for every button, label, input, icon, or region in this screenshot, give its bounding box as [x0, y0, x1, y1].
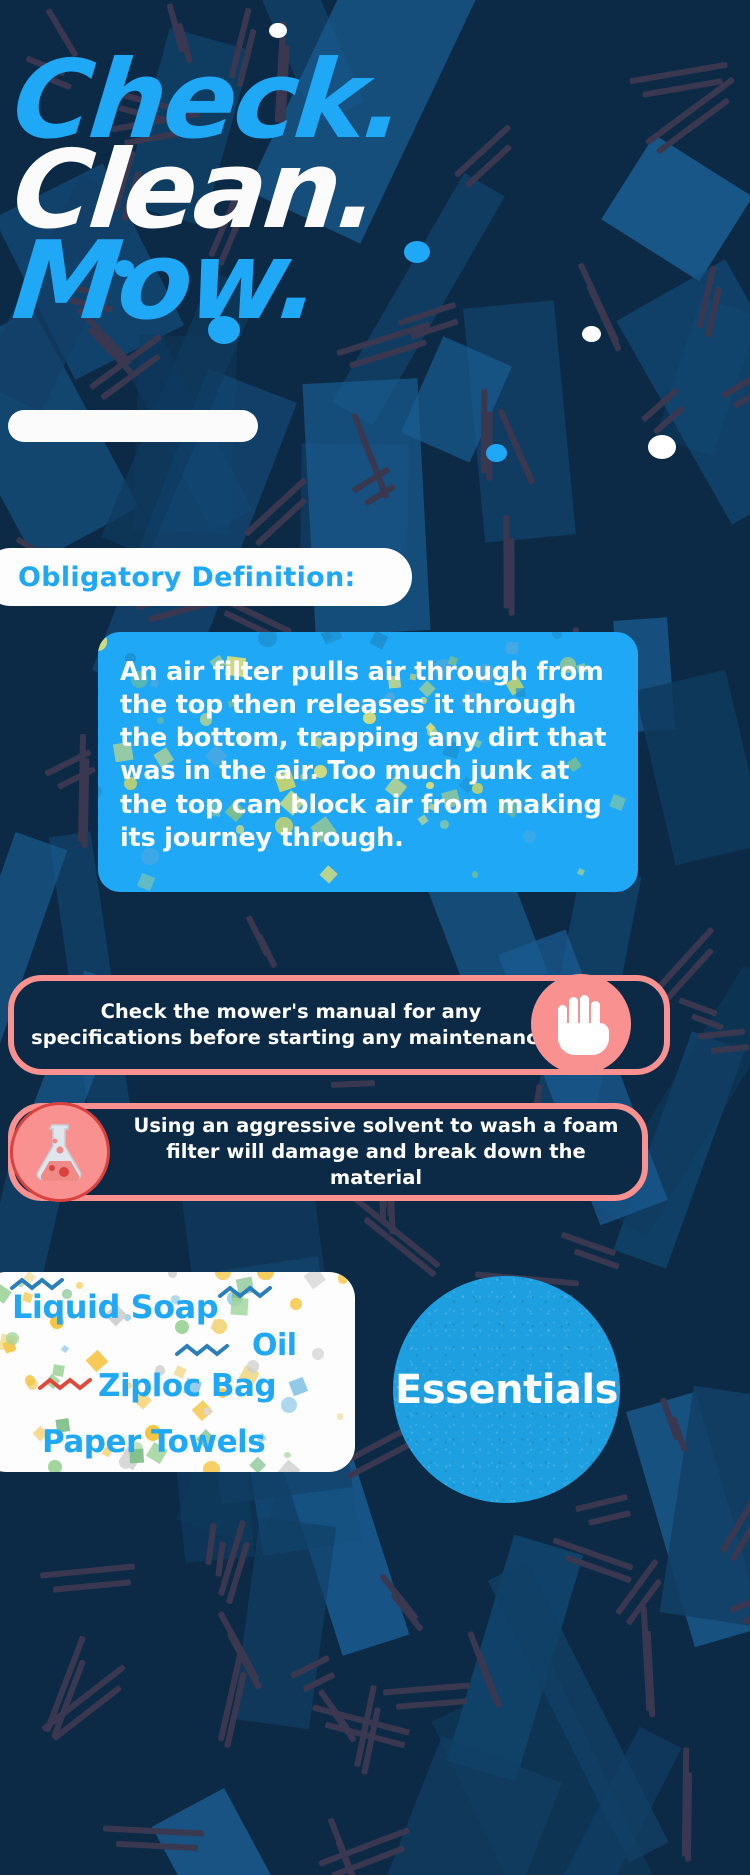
confetti-piece: [203, 1461, 220, 1472]
confetti-piece: [258, 632, 276, 647]
bg-dash: [335, 1840, 367, 1875]
confetti-piece: [137, 872, 156, 891]
bg-dash: [696, 266, 716, 329]
bg-dash: [705, 287, 722, 338]
bg-dash: [729, 1570, 750, 1612]
confetti-piece: [304, 1272, 326, 1289]
bg-dash: [57, 767, 96, 791]
bg-dash: [660, 1398, 680, 1441]
bg-rectangle: [463, 301, 575, 544]
bg-dash: [318, 1827, 410, 1867]
bg-dash: [245, 915, 270, 957]
bg-dash: [504, 515, 510, 608]
bg-dash: [82, 759, 90, 848]
bg-dash: [359, 435, 389, 500]
bg-dash: [468, 1630, 499, 1699]
bg-dash: [685, 1772, 692, 1861]
bg-dash: [243, 477, 307, 536]
bg-dash: [327, 1817, 365, 1875]
confetti-piece: [506, 641, 519, 654]
bg-rectangle: [626, 1392, 750, 1647]
bg-rectangle: [635, 669, 750, 865]
confetti-squiggle: [38, 1376, 96, 1394]
confetti-piece: [319, 866, 338, 885]
bg-dash: [101, 353, 162, 400]
confetti-piece: [472, 871, 478, 877]
definition-card: An air filter pulls air through from the…: [98, 632, 638, 892]
confetti-piece: [204, 1408, 211, 1415]
bg-dash: [224, 1672, 247, 1748]
bg-rectangle: [233, 1516, 337, 1728]
bg-dash: [733, 357, 750, 409]
confetti-piece: [25, 1375, 35, 1385]
essentials-item-1: Oil: [252, 1328, 297, 1363]
hand-stop-icon: [531, 974, 631, 1074]
confetti-piece: [577, 868, 585, 876]
bg-dash: [396, 1698, 467, 1710]
bg-dash: [588, 1510, 631, 1526]
bg-dash: [353, 1196, 442, 1269]
bg-dash: [641, 1606, 653, 1711]
bg-rectangle: [151, 1788, 282, 1875]
bg-dash: [40, 1563, 135, 1578]
confetti-piece: [98, 785, 102, 798]
bg-dash: [626, 1579, 663, 1626]
bg-dash: [573, 1248, 619, 1269]
bg-dash: [741, 1589, 750, 1625]
bg-dash: [577, 263, 619, 344]
bg-dash: [331, 1080, 375, 1088]
confetti-piece: [48, 1460, 62, 1472]
bg-dash: [226, 1632, 262, 1690]
bg-rectangle: [528, 1727, 682, 1875]
bg-dash: [254, 497, 307, 546]
bg-dash: [509, 538, 515, 615]
bg-rectangle: [401, 336, 512, 462]
bg-dash: [586, 284, 622, 352]
bg-dash: [364, 483, 396, 506]
confetti-piece: [6, 1332, 19, 1345]
warning-text-manual: Check the mower's manual for any specifi…: [14, 999, 568, 1051]
bg-dash: [487, 411, 493, 480]
bg-dash: [720, 1485, 750, 1553]
bg-dot: [486, 444, 507, 462]
bg-dash: [226, 1541, 250, 1604]
bg-dash: [388, 1200, 395, 1234]
confetti-piece: [281, 1397, 297, 1413]
bg-dash: [642, 78, 723, 98]
confetti-piece: [257, 1272, 274, 1280]
bg-rectangle: [431, 1664, 657, 1875]
title-line-3: Mow.: [9, 239, 488, 325]
bg-dash: [51, 1659, 86, 1739]
bg-dash: [312, 1704, 410, 1735]
bg-rectangle: [656, 297, 750, 455]
bg-dash: [329, 1707, 357, 1743]
bg-dash: [354, 1684, 377, 1766]
essentials-item-3: Paper Towels: [42, 1424, 265, 1460]
bg-dash: [78, 734, 86, 842]
confetti-piece: [552, 632, 563, 639]
confetti-piece: [337, 1413, 344, 1420]
bg-dash: [721, 337, 750, 398]
bg-dash: [45, 750, 92, 778]
bg-dash: [302, 1672, 335, 1693]
bg-dash: [290, 1655, 330, 1679]
bg-rectangle: [602, 135, 750, 281]
bg-dash: [256, 934, 277, 969]
confetti-piece: [168, 1272, 177, 1278]
bg-dash: [653, 405, 686, 435]
confetti-piece: [61, 1345, 69, 1353]
bg-dash: [390, 1592, 423, 1632]
bg-dash: [730, 1506, 750, 1562]
bg-dash: [565, 1555, 632, 1584]
bg-dash: [561, 1232, 617, 1257]
confetti-squiggle: [218, 1284, 276, 1302]
bg-dash: [698, 1028, 745, 1039]
bg-rectangle: [447, 1534, 583, 1780]
bg-dash: [206, 1523, 217, 1565]
bg-dash: [218, 1519, 246, 1595]
bg-dot: [269, 23, 287, 38]
definition-body-text: An air filter pulls air through from the…: [120, 656, 614, 855]
definition-heading-pill: Obligatory Definition:: [0, 548, 412, 606]
bg-dash: [645, 1631, 656, 1717]
warning-text-solvent: Using an aggressive solvent to wash a fo…: [110, 1113, 642, 1191]
essentials-label: Essentials: [395, 1367, 618, 1413]
bg-dash: [552, 1537, 633, 1571]
title-underline-bar: [8, 410, 258, 442]
bg-dash: [351, 413, 387, 491]
bg-dash: [362, 1707, 382, 1775]
bg-rectangle: [300, 443, 409, 552]
flask-icon: [10, 1102, 110, 1202]
confetti-piece: [290, 1298, 302, 1310]
essentials-item-0: Liquid Soap: [12, 1288, 218, 1326]
bg-dash: [641, 387, 680, 422]
bg-dash: [629, 62, 728, 85]
bg-dash: [498, 408, 532, 475]
bg-dash: [644, 76, 734, 145]
bg-dash: [364, 1217, 438, 1278]
bg-dash: [711, 1044, 749, 1054]
confetti-squiggle: [175, 1342, 233, 1360]
essentials-list-card: Liquid Soap Oil Ziploc Bag Paper Towels: [0, 1272, 355, 1472]
bg-dash: [379, 1573, 419, 1621]
bg-dash: [217, 1648, 244, 1741]
bg-dot: [648, 435, 676, 459]
bg-dash: [349, 339, 427, 369]
confetti-piece: [338, 1273, 349, 1284]
bg-dash: [383, 1682, 470, 1695]
essentials-badge: Essentials: [393, 1276, 620, 1503]
bg-dash: [41, 1664, 126, 1732]
confetti-piece: [215, 1272, 230, 1280]
bg-rectangle: [617, 259, 750, 524]
bg-dash: [351, 466, 390, 493]
bg-dot: [582, 326, 601, 342]
bg-dash: [476, 1652, 502, 1708]
bg-dash: [325, 1722, 406, 1749]
bg-dash: [318, 1688, 351, 1731]
infographic-poster: Check. Clean. Mow. Obligatory Definition…: [0, 0, 750, 1875]
bg-dash: [670, 1416, 688, 1452]
bg-dash: [481, 389, 488, 473]
bg-dash: [217, 1611, 259, 1681]
bg-rectangle: [363, 1736, 561, 1875]
bg-dash: [678, 997, 718, 1016]
bg-rectangle: [659, 1386, 750, 1632]
definition-heading-label: Obligatory Definition:: [18, 562, 356, 593]
confetti-piece: [289, 1377, 308, 1396]
bg-dash: [330, 1845, 405, 1875]
essentials-item-2: Ziploc Bag: [98, 1368, 276, 1404]
confetti-piece: [53, 1364, 66, 1377]
bg-dash: [116, 1841, 198, 1851]
bg-dash: [507, 429, 536, 485]
confetti-piece: [284, 1452, 291, 1459]
bg-dash: [655, 97, 729, 154]
bg-dash: [682, 1747, 690, 1856]
bg-rectangle: [487, 1560, 668, 1861]
bg-dash: [53, 1579, 131, 1592]
bg-dash: [691, 1013, 724, 1030]
bg-dash: [660, 947, 714, 1006]
bg-dash: [216, 1541, 226, 1576]
confetti-piece: [278, 1460, 301, 1472]
bg-dash: [52, 1685, 122, 1741]
confetti-piece: [98, 632, 107, 650]
bg-dash: [103, 1825, 204, 1836]
confetti-piece: [312, 1348, 324, 1360]
poster-title: Check. Clean. Mow.: [14, 58, 484, 329]
confetti-piece: [369, 632, 387, 649]
bg-dash: [44, 1636, 86, 1733]
bg-dash: [616, 1559, 660, 1616]
